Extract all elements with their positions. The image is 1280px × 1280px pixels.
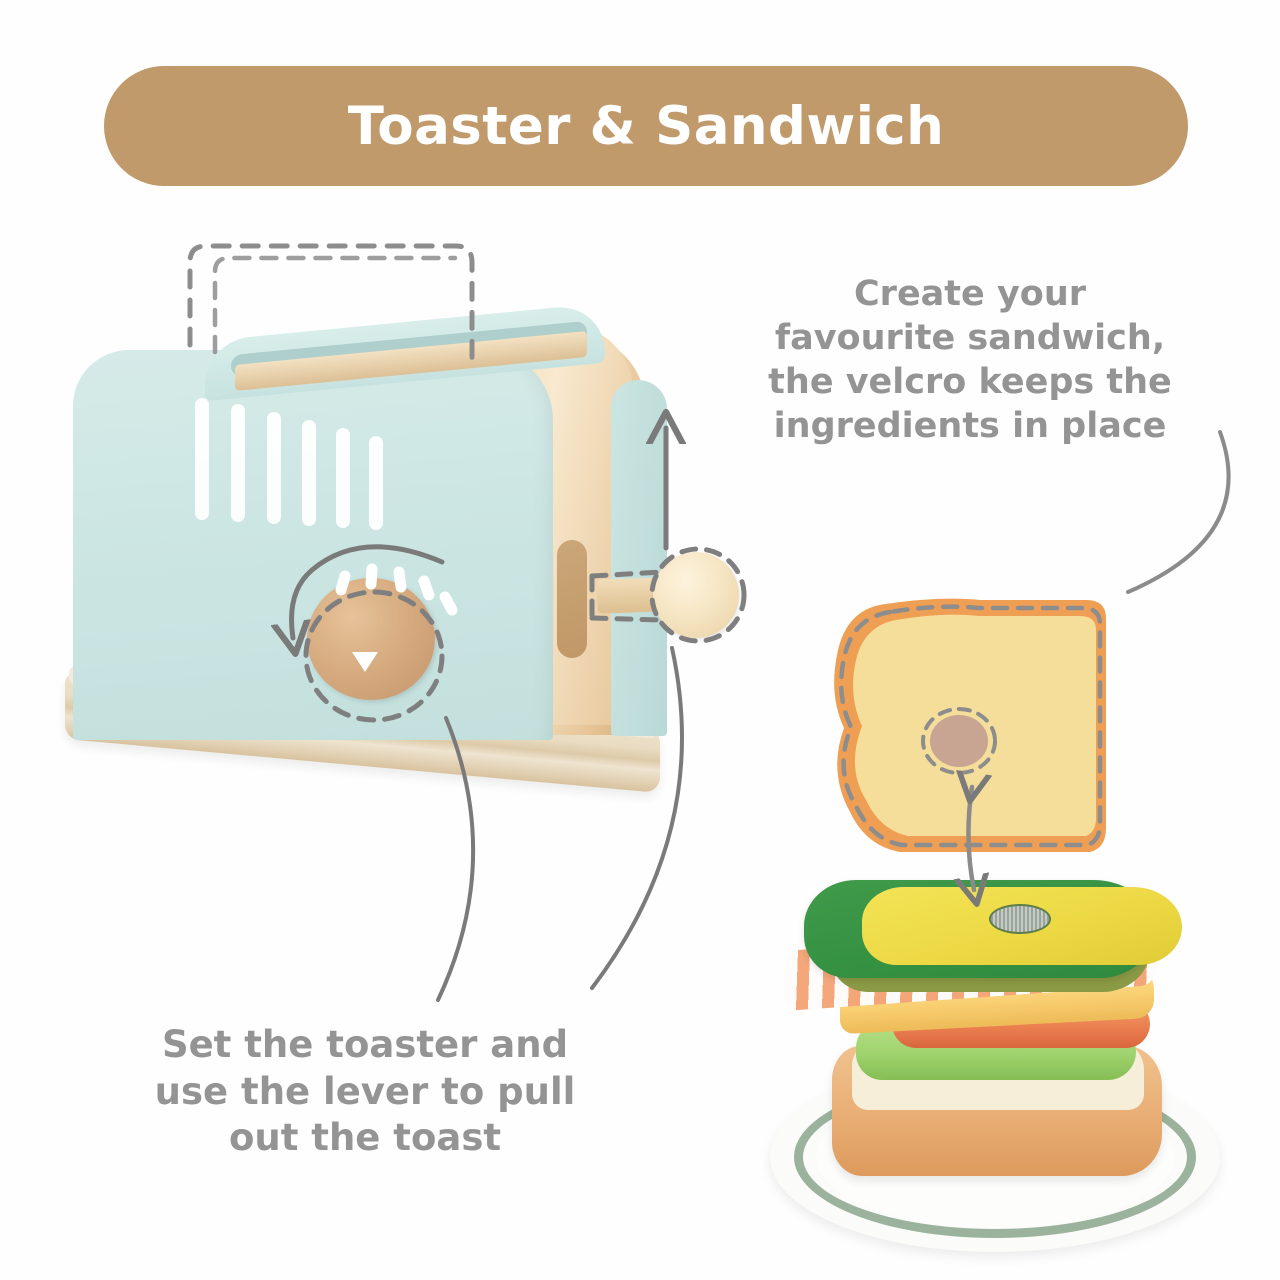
toaster-vents [195, 398, 425, 528]
caption-toaster-lever: Set the toaster and use the lever to pul… [95, 1022, 635, 1162]
velcro-patch [989, 904, 1051, 934]
title-banner: Toaster & Sandwich [104, 66, 1188, 186]
layer-avocado[interactable] [804, 880, 1154, 978]
sandwich-stack-photo [760, 880, 1240, 1250]
toaster-product-photo [55, 230, 695, 830]
browning-dial[interactable] [307, 578, 435, 700]
toaster-right-side [611, 380, 667, 736]
dial-pointer-triangle-icon [352, 652, 378, 672]
lever-slot [557, 540, 587, 658]
page-title: Toaster & Sandwich [348, 96, 944, 157]
vent-bar [369, 436, 383, 530]
connector-caption-to-toast [1128, 432, 1229, 592]
caption-sandwich-velcro: Create your favourite sandwich, the velc… [720, 272, 1220, 448]
infographic-page: Toaster & Sandwich Create your favourite… [0, 0, 1280, 1280]
toast-slice-photo [830, 580, 1150, 860]
vent-bar [302, 420, 316, 526]
vent-bar [267, 412, 281, 524]
pop-up-lever-knob[interactable] [653, 552, 739, 638]
vent-bar [195, 398, 209, 520]
vent-bar [336, 428, 350, 528]
vent-bar [231, 404, 245, 522]
